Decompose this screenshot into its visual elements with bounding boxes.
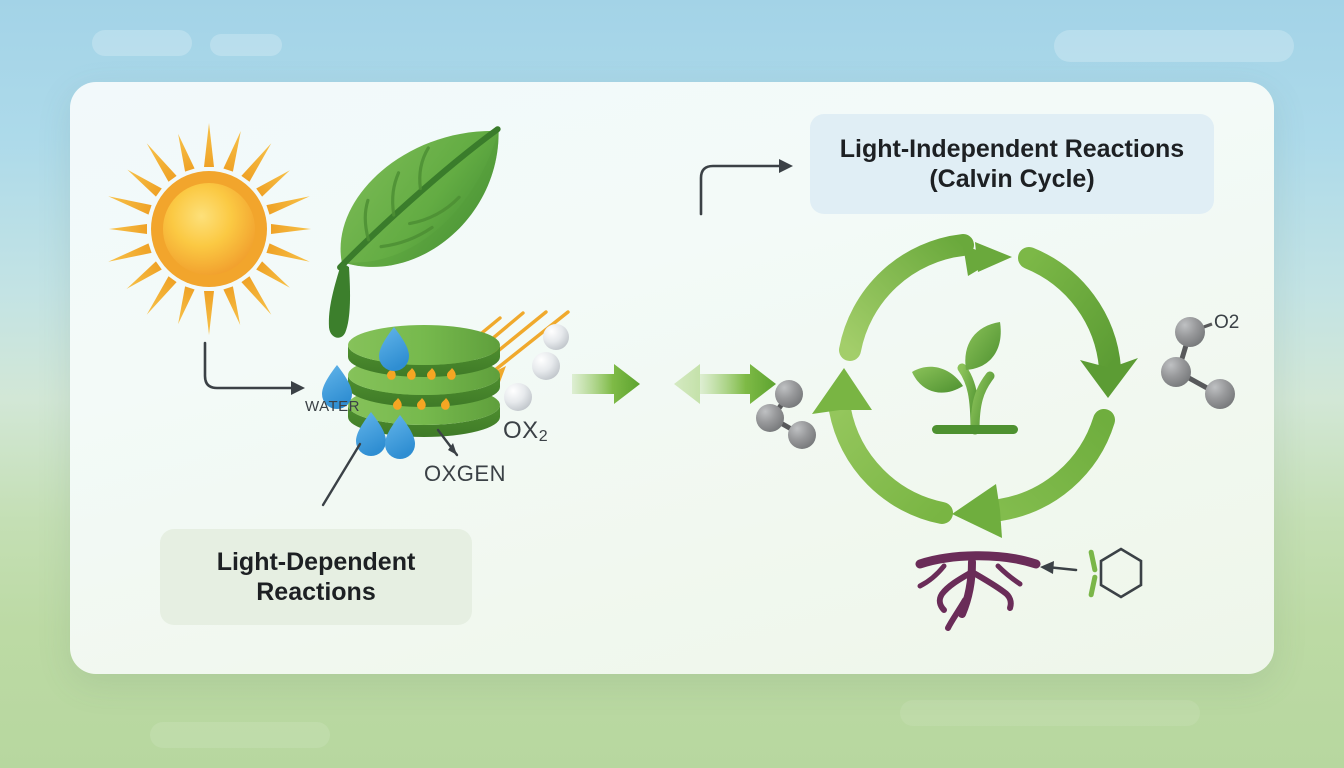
label-oxygen: OXGEN (424, 461, 506, 487)
lightdep-label-line1: Light-Dependent (217, 547, 416, 578)
label-light-dependent-reactions[interactable]: Light-Dependent Reactions (160, 529, 472, 625)
calvin-label-line2: (Calvin Cycle) (840, 164, 1184, 195)
diagram-card: Light-Independent Reactions (Calvin Cycl… (70, 82, 1274, 674)
lightdep-label-line2: Reactions (217, 577, 416, 608)
bidirectional-arrow-icon (674, 364, 776, 404)
calvin-label-line1: Light-Independent Reactions (840, 134, 1184, 165)
light-ray-arrows-icon (420, 312, 568, 384)
ox2-main: OX (503, 417, 539, 444)
thylakoid-stack-icon (348, 325, 500, 437)
sprout-icon (912, 322, 1018, 434)
oxygen-pointer-arrowhead-icon (448, 443, 457, 455)
light-ray-arrowheads-icon (420, 366, 506, 392)
background-pill-5 (150, 722, 330, 748)
background-pill-2 (210, 34, 282, 56)
label-light-independent-reactions[interactable]: Light-Independent Reactions (Calvin Cycl… (810, 114, 1214, 214)
glucose-to-roots-arrow-icon (1040, 561, 1076, 574)
co2-molecule-icon (756, 380, 816, 449)
label-water: WATER (305, 398, 360, 415)
energy-spark-icon (387, 368, 456, 410)
light-dependent-leader-line (323, 444, 360, 505)
glucose-hexagon-icon (1091, 549, 1141, 597)
background-pill-1 (92, 30, 192, 56)
background-pill-3 (1054, 30, 1294, 62)
sun-icon (107, 123, 312, 335)
ox2-subscript: 2 (539, 428, 548, 445)
water-droplet-icon (322, 327, 415, 459)
flow-arrow-icon (572, 364, 640, 404)
connector-elbow-to-calvin-icon (701, 159, 793, 214)
leaf-icon (273, 110, 549, 340)
oxygen-pointer-arrow-icon (438, 430, 457, 455)
diagram-canvas: Light-Independent Reactions (Calvin Cycl… (0, 0, 1344, 768)
calvin-cycle-arrows-icon (812, 242, 1138, 538)
connector-elbow-sun-to-stack-icon (205, 343, 305, 395)
oxygen-bubble-icon (504, 324, 569, 411)
background-pill-6 (900, 700, 1200, 726)
roots-icon (920, 556, 1036, 628)
label-o2: O2 (1214, 312, 1239, 334)
label-ox2: OX2 (503, 417, 548, 446)
